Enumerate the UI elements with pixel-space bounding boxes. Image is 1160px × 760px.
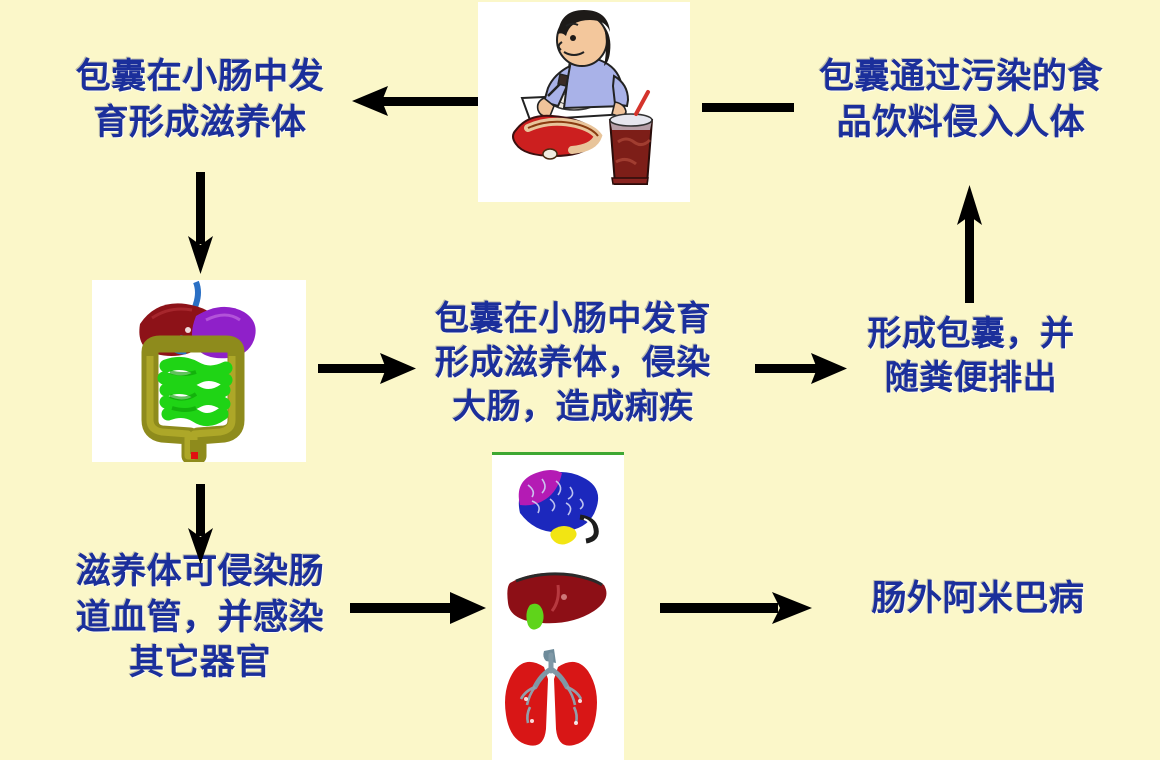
node-cyst-enters-body-via-contaminated-food: 包囊通过污染的食 品饮料侵入人体 xyxy=(796,55,1126,146)
arrow-digestive-to-bottom-left xyxy=(181,484,221,564)
node-cyst-formed-and-excreted: 形成包囊，并 随粪便排出 xyxy=(836,312,1106,400)
node-trophozoite-infects-large-intestine: 包囊在小肠中发育 形成滋养体，侵染 大肠，造成痢疾 xyxy=(398,297,748,430)
node-cyst-develops-in-small-intestine: 包囊在小肠中发 育形成滋养体 xyxy=(40,55,360,146)
image-affected-organs xyxy=(492,452,624,760)
arrow-cyst-excreted-to-invade-body xyxy=(950,185,990,303)
arrow-organs-to-extraintestinal xyxy=(660,590,812,626)
arrow-top-left-to-digestive xyxy=(181,172,221,274)
node-trophozoite-infects-blood-vessels: 滋养体可侵染肠 道血管，并感染 其它器官 xyxy=(40,550,360,687)
image-digestive-system xyxy=(92,280,306,462)
arrow-middle-center-to-cyst-formed xyxy=(755,350,847,388)
arrow-eating-to-top-left xyxy=(352,82,478,122)
arrow-bottom-left-to-organs xyxy=(350,590,486,626)
diagram-canvas: 包囊在小肠中发 育形成滋养体 包囊通过污染的食 品饮料侵入人体 包囊在小肠中发育… xyxy=(0,0,1160,760)
arrow-digestive-to-middle-center xyxy=(318,350,416,388)
small-intestine xyxy=(164,363,226,419)
connector-eating-to-top-right xyxy=(702,100,794,114)
image-man-eating-contaminated-food xyxy=(478,2,690,202)
node-extraintestinal-amoebiasis: 肠外阿米巴病 xyxy=(838,577,1118,623)
